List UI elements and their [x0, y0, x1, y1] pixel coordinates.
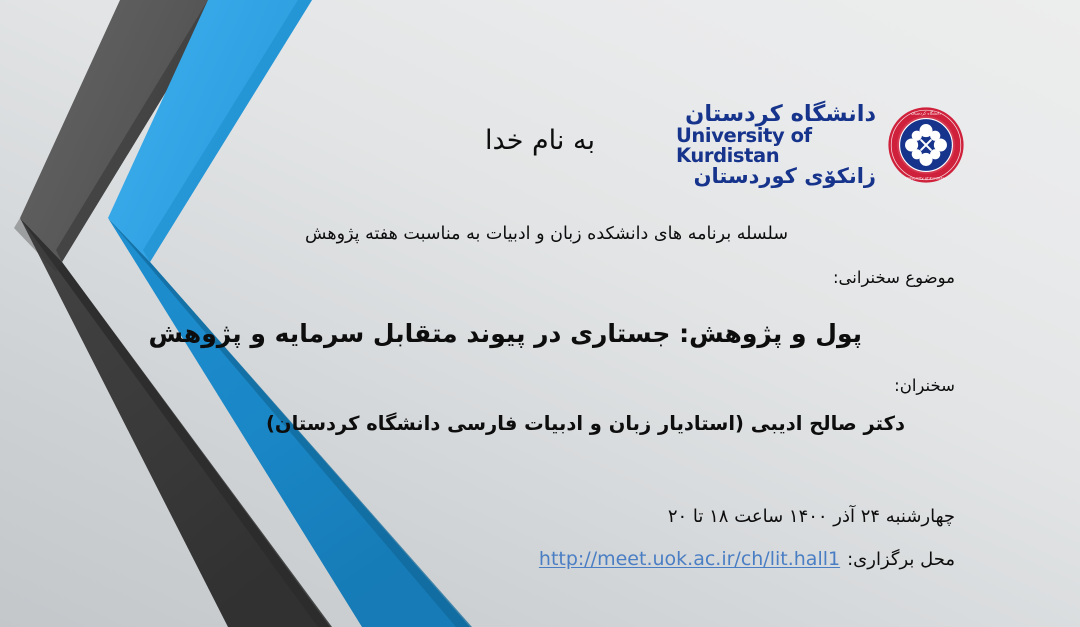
bismillah-text: به نام خدا: [485, 124, 595, 158]
event-datetime: چهارشنبه ۲۴ آذر ۱۴۰۰ ساعت ۱۸ تا ۲۰: [668, 506, 955, 529]
venue-row: محل برگزاری: http://meet.uok.ac.ir/ch/li…: [539, 548, 955, 572]
meeting-link[interactable]: http://meet.uok.ac.ir/ch/lit.hall1: [539, 548, 840, 572]
speaker-label: سخنران:: [894, 376, 955, 397]
speaker-name: دکتر صالح ادیبی (استادیار زبان و ادبیات …: [266, 412, 905, 436]
venue-label: محل برگزاری:: [847, 549, 955, 572]
lecture-title: پول و پژوهش: جستاری در پیوند متقابل سرما…: [149, 318, 862, 349]
slide-text-content: به نام خدا سلسله برنامه های دانشکده زبان…: [0, 0, 1080, 627]
topic-label: موضوع سخنرانی:: [833, 268, 955, 289]
series-subtitle: سلسله برنامه های دانشکده زبان و ادبیات ب…: [305, 224, 788, 246]
presentation-slide: دانشگاه کردستان University of Kurdistan …: [0, 0, 1080, 627]
